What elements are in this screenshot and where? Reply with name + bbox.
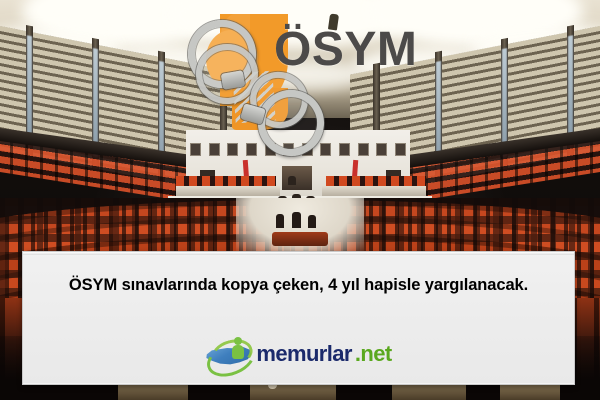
- figure-body: [232, 345, 244, 359]
- memurlar-map-swoosh-icon: [205, 337, 253, 371]
- panel-top-edge: [23, 252, 574, 255]
- wall-light-strip: [27, 35, 32, 144]
- front-desk-right: [322, 186, 426, 196]
- logo-text-primary: memurlar: [256, 343, 351, 365]
- rostrum-window: [395, 143, 406, 156]
- rostrum-window: [339, 143, 350, 156]
- front-chairs-right: [326, 176, 426, 186]
- memurlar-net-logo[interactable]: memurlar .net: [23, 334, 574, 374]
- speaker-rostrum: [282, 166, 312, 190]
- news-image: ÖSYM ÖSYM sınavlarında kopya çeken, 4 yı…: [0, 0, 600, 400]
- handcuffs-icon: [188, 20, 338, 152]
- wall-light-strip: [568, 35, 573, 144]
- front-chairs-left: [176, 176, 276, 186]
- osym-logo: ÖSYM: [196, 8, 406, 132]
- headline-text: ÖSYM sınavlarında kopya çeken, 4 yıl hap…: [23, 276, 574, 295]
- well-figure: [292, 212, 301, 228]
- presidium-figure: [288, 176, 296, 185]
- well-figure: [276, 214, 284, 228]
- rostrum-window: [358, 143, 369, 156]
- well-table: [272, 232, 328, 246]
- caption-panel: ÖSYM sınavlarında kopya çeken, 4 yıl hap…: [22, 251, 575, 385]
- front-desk-left: [176, 186, 280, 196]
- rostrum-window: [376, 143, 387, 156]
- well-figure: [308, 215, 316, 228]
- logo-text-suffix: .net: [355, 343, 392, 365]
